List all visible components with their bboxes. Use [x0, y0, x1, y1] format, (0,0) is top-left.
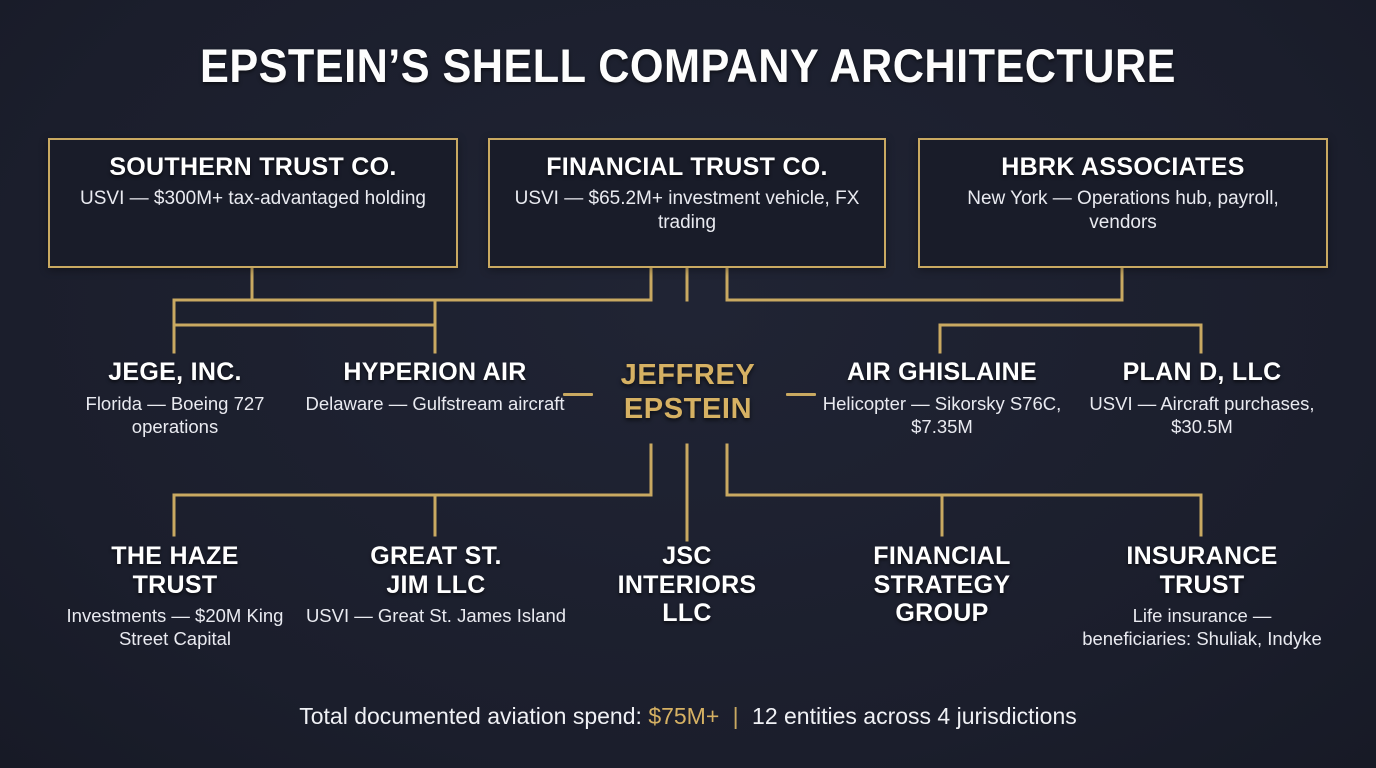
entity-name-line1: THE HAZE	[44, 542, 306, 571]
footer-lead: Total documented aviation spend:	[299, 703, 642, 729]
entity-card-hbrk-associates[interactable]: HBRK ASSOCIATES New York — Operations hu…	[918, 138, 1328, 268]
entity-node-insurance-trust[interactable]: INSURANCE TRUST Life insurance — benefic…	[1082, 542, 1322, 651]
entity-name-line1: JSC	[577, 542, 797, 571]
entity-detail: USVI — Great St. James Island	[305, 604, 567, 627]
entity-card-southern-trust[interactable]: SOUTHERN TRUST CO. USVI — $300M+ tax-adv…	[48, 138, 458, 268]
entity-name-line2: TRUST	[1082, 571, 1322, 600]
entity-node-hyperion-air[interactable]: HYPERION AIR Delaware — Gulfstream aircr…	[303, 358, 567, 415]
entity-detail: Florida — Boeing 727 operations	[44, 392, 306, 439]
entity-name-line2: TRUST	[44, 571, 306, 600]
entity-name-line3: GROUP	[830, 599, 1054, 628]
entity-name: SOUTHERN TRUST CO.	[50, 153, 456, 181]
center-name-line1: JEFFREY	[599, 359, 777, 393]
entity-name: FINANCIAL TRUST CO.	[490, 153, 884, 181]
entity-detail: Investments — $20M King Street Capital	[44, 604, 306, 651]
entity-node-financial-strategy-group[interactable]: FINANCIAL STRATEGY GROUP	[830, 542, 1054, 628]
entity-name-line3: LLC	[577, 599, 797, 628]
entity-node-plan-d-llc[interactable]: PLAN D, LLC USVI — Aircraft purchases, $…	[1070, 358, 1334, 438]
entity-node-air-ghislaine[interactable]: AIR GHISLAINE Helicopter — Sikorsky S76C…	[810, 358, 1074, 438]
entity-detail: New York — Operations hub, payroll, vend…	[920, 187, 1326, 235]
infographic-canvas: EPSTEIN’S SHELL COMPANY ARCHITECTURE	[0, 0, 1376, 768]
entity-node-jsc-interiors-llc[interactable]: JSC INTERIORS LLC	[577, 542, 797, 628]
entity-detail: Life insurance — beneficiaries: Shuliak,…	[1082, 604, 1322, 651]
entity-detail: Helicopter — Sikorsky S76C, $7.35M	[810, 392, 1074, 439]
entity-name-line2: STRATEGY	[830, 571, 1054, 600]
entity-name-line1: FINANCIAL	[830, 542, 1054, 571]
entity-name-line1: GREAT ST.	[305, 542, 567, 571]
entity-name: HBRK ASSOCIATES	[920, 153, 1326, 181]
entity-name-line1: INSURANCE	[1082, 542, 1322, 571]
entity-node-great-st-jim-llc[interactable]: GREAT ST. JIM LLC USVI — Great St. James…	[305, 542, 567, 627]
footer-amount: $75M+	[648, 703, 719, 729]
entity-node-jeffrey-epstein[interactable]: JEFFREY EPSTEIN	[599, 359, 777, 426]
entity-detail: USVI — $300M+ tax-advantaged holding	[50, 187, 456, 211]
footer-separator: |	[726, 703, 746, 729]
entity-card-financial-trust[interactable]: FINANCIAL TRUST CO. USVI — $65.2M+ inves…	[488, 138, 886, 268]
entity-name-line2: JIM LLC	[305, 571, 567, 600]
entity-name: PLAN D, LLC	[1070, 358, 1334, 387]
entity-detail: USVI — $65.2M+ investment vehicle, FX tr…	[490, 187, 884, 235]
entity-name: HYPERION AIR	[303, 358, 567, 387]
summary-footer: Total documented aviation spend: $75M+ |…	[0, 703, 1376, 730]
entity-node-the-haze-trust[interactable]: THE HAZE TRUST Investments — $20M King S…	[44, 542, 306, 651]
entity-name-line2: INTERIORS	[577, 571, 797, 600]
center-right-dash	[786, 393, 816, 396]
entity-detail: Delaware — Gulfstream aircraft	[303, 392, 567, 415]
page-title: EPSTEIN’S SHELL COMPANY ARCHITECTURE	[55, 38, 1321, 93]
entity-node-jege-inc[interactable]: JEGE, INC. Florida — Boeing 727 operatio…	[44, 358, 306, 438]
entity-detail: USVI — Aircraft purchases, $30.5M	[1070, 392, 1334, 439]
center-name-line2: EPSTEIN	[599, 393, 777, 427]
footer-tail: 12 entities across 4 jurisdictions	[752, 703, 1077, 729]
center-left-dash	[563, 393, 593, 396]
entity-name: JEGE, INC.	[44, 358, 306, 387]
entity-name: AIR GHISLAINE	[810, 358, 1074, 387]
